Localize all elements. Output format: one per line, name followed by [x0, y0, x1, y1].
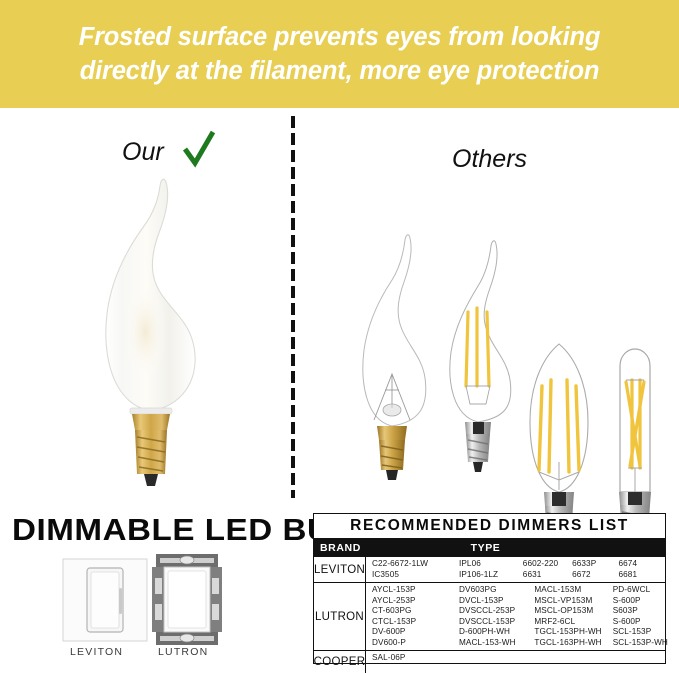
table-header-row: BRAND TYPE	[314, 539, 665, 557]
table-row: LEVITON C22-6672-1LW IC3505 IPL06 IP106-…	[314, 557, 665, 583]
type-value: AYCL-153P	[372, 585, 459, 596]
table-title: RECOMMENDED DIMMERS LIST	[314, 514, 665, 539]
brand-cell: LUTRON	[314, 583, 366, 650]
other-bulb-1-clear-incandescent	[352, 230, 432, 490]
table-row: COOPER SAL-06P	[314, 651, 665, 673]
type-value: DVCL-153P	[459, 596, 534, 607]
type-value: MACL-153-WH	[459, 638, 534, 649]
type-value: MSCL-OP153M	[534, 606, 612, 617]
type-value: SAL-06P	[372, 653, 459, 664]
type-value: S-600P	[613, 617, 662, 628]
type-column: AYCL-153P AYCL-253P CT-603PG CTCL-153P D…	[372, 585, 459, 649]
type-value: CTCL-153P	[372, 617, 459, 628]
type-value: TGCL-153PH-WH	[534, 627, 612, 638]
type-value: S-600P	[613, 596, 662, 607]
type-value: 6602-220	[523, 559, 572, 570]
our-frosted-bulb	[88, 174, 214, 494]
type-value: 6674	[618, 559, 662, 570]
type-value: TGCL-163PH-WH	[534, 638, 612, 649]
header-banner: Frosted surface prevents eyes from looki…	[0, 0, 679, 108]
lutron-switch-label: LUTRON	[158, 646, 208, 658]
type-value: DVSCCL-253P	[459, 606, 534, 617]
type-column: IPL06 IP106-1LZ	[459, 559, 523, 580]
other-bulb-2-led-filament-flame	[438, 236, 518, 486]
leviton-dimmer-switch	[62, 558, 148, 642]
vertical-dashed-divider	[291, 116, 295, 498]
others-label: Others	[452, 145, 527, 174]
our-label: Our	[122, 138, 164, 167]
type-value: IC3505	[372, 570, 459, 581]
brand-cell: LEVITON	[314, 557, 366, 582]
table-row: LUTRON AYCL-153P AYCL-253P CT-603PG CTCL…	[314, 583, 665, 651]
banner-line-1: Frosted surface prevents eyes from looki…	[20, 20, 660, 54]
dimmer-switch-gallery: LEVITON LUTRON	[0, 558, 305, 673]
type-value: C22-6672-1LW	[372, 559, 459, 570]
banner-text: Frosted surface prevents eyes from looki…	[20, 20, 660, 88]
type-value: 6672	[572, 570, 618, 581]
type-value: PD-6WCL	[613, 585, 662, 596]
type-value: 6633P	[572, 559, 618, 570]
type-value: MSCL-VP153M	[534, 596, 612, 607]
type-value: AYCL-253P	[372, 596, 459, 607]
header-brand: BRAND	[314, 542, 366, 554]
type-value: MACL-153M	[534, 585, 612, 596]
type-value: DV600-P	[372, 638, 459, 649]
type-column: 6674 6681	[618, 559, 662, 580]
type-column: 6633P 6672	[572, 559, 618, 580]
type-value: DVSCCL-153P	[459, 617, 534, 628]
type-value: SCL-153P-WH	[613, 638, 662, 649]
brand-cell: COOPER	[314, 651, 366, 673]
type-value: IPL06	[459, 559, 523, 570]
type-cell: AYCL-153P AYCL-253P CT-603PG CTCL-153P D…	[366, 583, 665, 650]
type-value: S603P	[613, 606, 662, 617]
type-column: MACL-153M MSCL-VP153M MSCL-OP153M MRF2-6…	[534, 585, 612, 649]
type-value: 6681	[618, 570, 662, 581]
type-column: PD-6WCL S-600P S603P S-600P SCL-153P SCL…	[613, 585, 662, 649]
type-value: CT-603PG	[372, 606, 459, 617]
header-type: TYPE	[366, 542, 665, 554]
comparison-section: Our Others	[0, 108, 679, 500]
leviton-switch-label: LEVITON	[70, 646, 123, 658]
dimmable-led-bulb-block: DIMMABLE LED BULB LEVITON LUTRON	[0, 500, 305, 673]
type-cell: C22-6672-1LW IC3505 IPL06 IP106-1LZ 6602…	[366, 557, 665, 582]
green-checkmark-icon	[182, 130, 216, 170]
type-column: DV603PG DVCL-153P DVSCCL-253P DVSCCL-153…	[459, 585, 534, 649]
type-value: D-600PH-WH	[459, 627, 534, 638]
type-value: DV603PG	[459, 585, 534, 596]
type-value: MRF2-6CL	[534, 617, 612, 628]
type-value: SCL-153P	[613, 627, 662, 638]
type-cell: SAL-06P	[366, 651, 665, 673]
type-column: SAL-06P	[372, 653, 459, 664]
type-column: 6602-220 6631	[523, 559, 572, 580]
recommended-dimmers-table: RECOMMENDED DIMMERS LIST BRAND TYPE LEVI…	[313, 513, 666, 664]
type-value: IP106-1LZ	[459, 570, 523, 581]
type-column: C22-6672-1LW IC3505	[372, 559, 459, 580]
banner-line-2: directly at the filament, more eye prote…	[20, 54, 660, 88]
lutron-dimmer-switch	[150, 552, 224, 648]
type-value: 6631	[523, 570, 572, 581]
type-value: DV-600P	[372, 627, 459, 638]
